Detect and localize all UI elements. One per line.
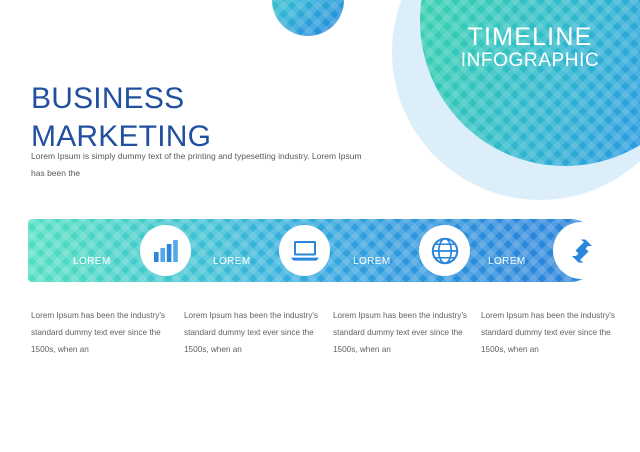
page-title: BUSINESS MARKETING bbox=[31, 80, 211, 156]
timeline-label-4: LOREM IPSUM bbox=[488, 238, 526, 282]
diamond-pattern-overlay bbox=[420, 0, 640, 166]
timeline-label-2-line1: LOREM bbox=[213, 256, 251, 267]
infographic-canvas: TIMELINE INFOGRAPHIC BUSINESS MARKETING … bbox=[0, 0, 640, 452]
timeline-icon-1[interactable] bbox=[140, 225, 191, 276]
description-column-3: Lorem Ipsum has been the industry's stan… bbox=[333, 307, 467, 359]
diamond-pattern-overlay-small bbox=[272, 0, 344, 36]
intro-paragraph: Lorem Ipsum is simply dummy text of the … bbox=[31, 148, 376, 181]
timeline-label-1-line1: LOREM bbox=[73, 256, 111, 267]
description-column-4: Lorem Ipsum has been the industry's stan… bbox=[481, 307, 615, 359]
timeline-icon-3[interactable] bbox=[419, 225, 470, 276]
gradient-hero-circle bbox=[420, 0, 640, 166]
timeline-icon-4[interactable] bbox=[553, 222, 610, 279]
timeline-label-4-line1: LOREM bbox=[488, 256, 526, 267]
description-column-1: Lorem Ipsum has been the industry's stan… bbox=[31, 307, 165, 359]
globe-icon bbox=[431, 237, 459, 265]
laptop-icon bbox=[290, 239, 320, 263]
timeline-label-2: LOREM IPSUM bbox=[213, 238, 251, 282]
timeline-icon-2[interactable] bbox=[279, 225, 330, 276]
timeline-label-3: LOREM IPSUM bbox=[353, 238, 391, 282]
description-column-2: Lorem Ipsum has been the industry's stan… bbox=[184, 307, 318, 359]
bar-chart-icon bbox=[153, 239, 179, 263]
timeline-label-3-line1: LOREM bbox=[353, 256, 391, 267]
timeline-label-1: LOREM IPSUM bbox=[73, 238, 111, 282]
exchange-arrows-icon bbox=[567, 236, 597, 266]
small-accent-circle bbox=[272, 0, 344, 36]
